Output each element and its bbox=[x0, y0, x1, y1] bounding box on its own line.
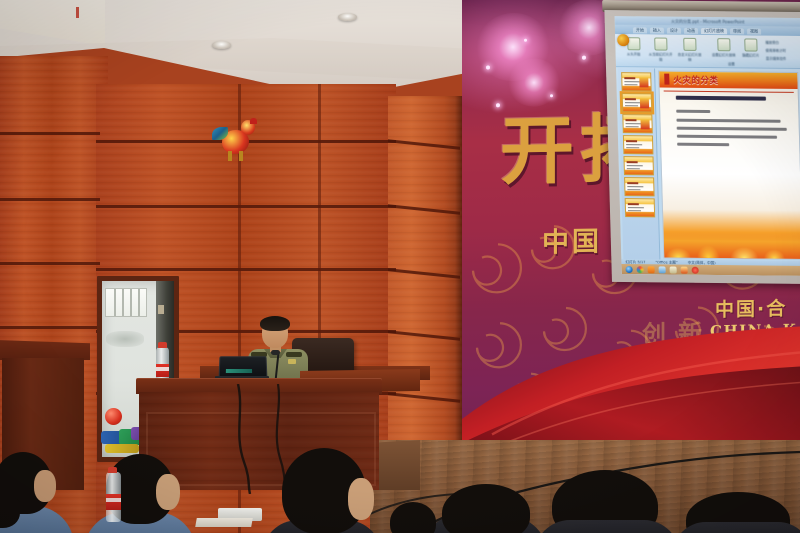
desk-notebook bbox=[195, 518, 253, 527]
ribbon-label: 自定义幻灯片放映 bbox=[678, 52, 702, 62]
powerpoint-icon[interactable] bbox=[681, 266, 688, 273]
from-current-slide-icon bbox=[654, 37, 667, 50]
slide-body-line bbox=[677, 135, 777, 139]
bottle-cap bbox=[158, 342, 167, 348]
ribbon-check-timings[interactable]: 使用排练计时 bbox=[766, 48, 786, 53]
screen-surface: 火灾的分类.ppt - Microsoft PowerPoint 开始 插入 设… bbox=[615, 16, 800, 276]
slide-thumbnail[interactable] bbox=[625, 198, 656, 217]
tab-review[interactable]: 审阅 bbox=[730, 28, 744, 34]
ribbon-from-current[interactable]: 从当前幻灯片开始 bbox=[648, 37, 673, 61]
slide-canvas[interactable]: 火灾的分类 bbox=[658, 71, 800, 260]
panel-seam bbox=[0, 132, 100, 135]
ceiling-red-mark bbox=[76, 7, 79, 18]
slide-title-accent bbox=[664, 74, 669, 85]
slide-thumbnail-selected[interactable] bbox=[622, 93, 653, 112]
slide-flame-footer bbox=[664, 231, 800, 258]
slide-thumbnail[interactable] bbox=[624, 177, 655, 196]
player-icon[interactable] bbox=[648, 266, 655, 273]
ribbon-check-narration[interactable]: 播放旁白 bbox=[765, 40, 779, 45]
cloth-yellow bbox=[105, 444, 139, 453]
tab-slideshow[interactable]: 幻灯片放映 bbox=[701, 27, 727, 33]
audience-face bbox=[348, 478, 374, 520]
presenter-epaulette bbox=[286, 352, 302, 357]
spark bbox=[496, 103, 500, 107]
slide-divider bbox=[664, 91, 794, 93]
bottle-label-stripe bbox=[106, 498, 121, 502]
downlight-icon bbox=[212, 41, 231, 49]
red-ball bbox=[105, 408, 122, 425]
audience-face bbox=[34, 470, 56, 502]
firework-graphic bbox=[508, 58, 560, 107]
tab-start[interactable]: 开始 bbox=[633, 27, 647, 33]
record-icon[interactable] bbox=[692, 266, 699, 273]
panel-seam bbox=[0, 262, 100, 265]
custom-slideshow-icon bbox=[683, 38, 696, 51]
powerpoint-window[interactable]: 火灾的分类.ppt - Microsoft PowerPoint 开始 插入 设… bbox=[615, 16, 800, 276]
panel-seam bbox=[96, 205, 396, 208]
hide-slide-icon bbox=[744, 38, 757, 51]
panel-seam bbox=[0, 198, 100, 201]
panel-seam bbox=[96, 268, 396, 271]
slide-body-line bbox=[677, 127, 787, 131]
audience-member bbox=[534, 520, 680, 533]
presenter-hair bbox=[260, 316, 290, 331]
slide-title: 火灾的分类 bbox=[673, 74, 718, 86]
media-player-icon[interactable] bbox=[637, 266, 644, 273]
bottle-label-stripe bbox=[156, 367, 169, 371]
slide-standard-line bbox=[676, 96, 766, 101]
cola-bottle bbox=[106, 472, 121, 522]
slide-body-line bbox=[676, 119, 780, 123]
tab-design[interactable]: 设计 bbox=[667, 27, 681, 33]
photo-viewer-icon[interactable] bbox=[670, 266, 677, 273]
audience-face bbox=[156, 474, 180, 510]
ribbon-label: 隐藏幻灯片 bbox=[739, 52, 763, 57]
ribbon-custom-show[interactable]: 自定义幻灯片放映 bbox=[677, 38, 702, 62]
slide-thumbnail-panel[interactable] bbox=[618, 68, 660, 260]
projection-screen: 火灾的分类.ppt - Microsoft PowerPoint 开始 插入 设… bbox=[604, 0, 800, 286]
explorer-icon[interactable] bbox=[659, 266, 666, 273]
slide-thumbnail[interactable] bbox=[622, 114, 653, 133]
lecture-hall-photo: 开拓 中国 创新 中国·合 CHINA·K bbox=[0, 0, 800, 533]
rooster-ornament-icon bbox=[212, 118, 262, 166]
tab-insert[interactable]: 插入 bbox=[650, 27, 664, 33]
ribbon-label: 设置幻灯片放映 bbox=[712, 52, 736, 57]
setup-slideshow-icon bbox=[717, 38, 730, 51]
banner-org-cn: 中国·合 bbox=[715, 294, 787, 322]
windows-taskbar[interactable] bbox=[621, 264, 800, 276]
ribbon-label: 从头开始 bbox=[622, 51, 646, 56]
browser-icon[interactable] bbox=[626, 266, 633, 273]
ribbon-hide-slide[interactable]: 隐藏幻灯片 bbox=[738, 38, 763, 57]
presenter-badge bbox=[288, 359, 296, 364]
slide-thumbnail[interactable] bbox=[621, 72, 652, 91]
ribbon-group-name: 设置 bbox=[728, 61, 735, 66]
screen-border: 火灾的分类.ppt - Microsoft PowerPoint 开始 插入 设… bbox=[604, 10, 800, 284]
audience-hair bbox=[442, 484, 530, 533]
spark bbox=[582, 56, 586, 60]
tab-animation[interactable]: 动画 bbox=[684, 27, 698, 33]
slide-body-line bbox=[677, 143, 729, 147]
laptop-screen-glow bbox=[226, 369, 252, 373]
slide-class-heading bbox=[676, 110, 710, 113]
slide-thumbnail[interactable] bbox=[623, 156, 654, 175]
downlight-icon bbox=[338, 13, 357, 21]
ribbon-label: 从当前幻灯片开始 bbox=[649, 51, 673, 61]
tab-view[interactable]: 视图 bbox=[747, 28, 761, 34]
office-button-icon[interactable] bbox=[617, 34, 629, 46]
slide-thumbnail[interactable] bbox=[623, 135, 654, 154]
lectern-top bbox=[0, 340, 90, 360]
panel-seam bbox=[0, 326, 100, 329]
microphone-head bbox=[271, 350, 280, 355]
ribbon-check-media[interactable]: 显示媒体控件 bbox=[766, 56, 786, 61]
ppt-ribbon[interactable]: 从头开始 从当前幻灯片开始 自定义幻灯片放映 设置幻灯片放映 bbox=[615, 34, 800, 69]
bottle-label bbox=[106, 494, 121, 510]
bottle-cap bbox=[108, 467, 117, 473]
ribbon-setup-show[interactable]: 设置幻灯片放映 bbox=[711, 38, 736, 57]
